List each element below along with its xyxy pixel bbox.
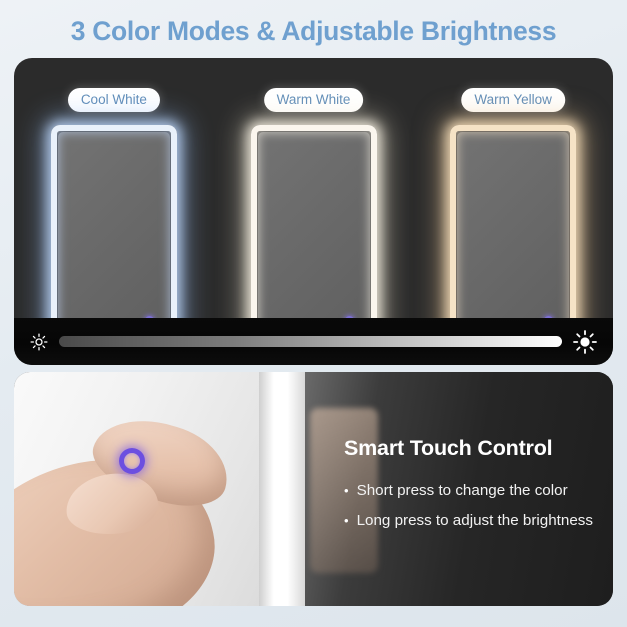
bullet-marker-icon: • (344, 484, 349, 497)
feature-bullet-text: Short press to change the color (357, 482, 568, 499)
glowing-touch-sensor-ring[interactable] (119, 448, 145, 474)
header: 3 Color Modes & Adjustable Brightness (0, 0, 627, 56)
bullet-marker-icon: • (344, 514, 349, 527)
page-title: 3 Color Modes & Adjustable Brightness (71, 16, 557, 47)
smart-touch-heading: Smart Touch Control (344, 436, 599, 461)
smart-touch-text-column: Smart Touch Control • Short press to cha… (344, 372, 599, 606)
mode-label-cool-white: Cool White (68, 88, 160, 112)
brightness-slider-bar[interactable] (14, 318, 613, 365)
color-modes-panel: Cool White Warm White Warm Yellow (14, 58, 613, 365)
feature-bullet-text: Long press to adjust the brightness (357, 512, 593, 529)
feature-bullet-long-press: • Long press to adjust the brightness (344, 512, 599, 529)
brightness-slider-track[interactable] (59, 336, 562, 347)
feature-bullet-short-press: • Short press to change the color (344, 482, 599, 499)
sun-small-icon (30, 333, 48, 351)
mirror-edge-highlight (259, 372, 305, 606)
mode-label-warm-white: Warm White (264, 88, 364, 112)
mode-label-warm-yellow: Warm Yellow (461, 88, 565, 112)
smart-touch-panel: Smart Touch Control • Short press to cha… (14, 372, 613, 606)
sun-large-icon (573, 330, 597, 354)
hand-touch-photo (14, 372, 259, 606)
